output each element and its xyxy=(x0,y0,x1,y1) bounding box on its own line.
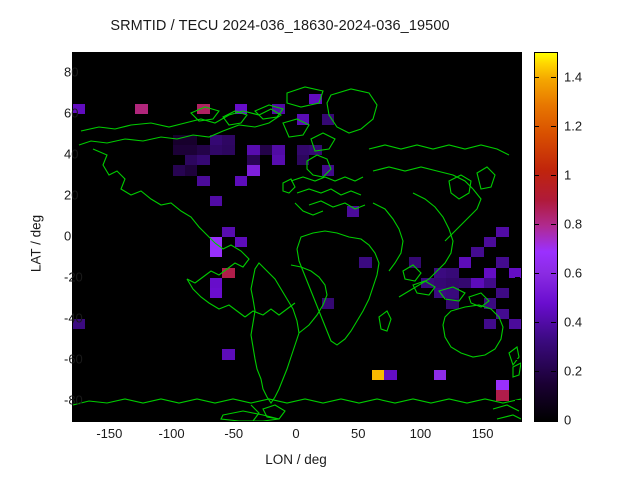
y-axis-tick-label: -20 xyxy=(64,269,83,284)
x-axis-tick xyxy=(172,52,173,57)
colorbar-tick xyxy=(534,77,539,78)
heatmap-cell xyxy=(185,135,197,145)
y-axis-tick xyxy=(515,318,520,319)
y-axis-tick xyxy=(515,400,520,401)
heatmap-cell xyxy=(135,104,147,114)
colorbar-tick xyxy=(534,420,539,421)
x-axis-tick xyxy=(358,52,359,57)
heatmap-cell xyxy=(434,288,446,298)
heatmap-cell xyxy=(446,288,458,298)
heatmap-cell xyxy=(434,370,446,380)
x-axis-tick-label: 50 xyxy=(351,426,365,441)
heatmap-cell xyxy=(210,247,222,257)
y-axis-tick-label: 80 xyxy=(64,65,78,80)
map-plot-area[interactable] xyxy=(72,52,522,422)
y-axis-tick-label: 40 xyxy=(64,147,78,162)
colorbar-tick xyxy=(551,175,556,176)
colorbar-tick xyxy=(534,175,539,176)
x-axis-tick-label: -50 xyxy=(224,426,243,441)
figure-canvas: SRMTID / TECU 2024-036_18630-2024-036_19… xyxy=(0,0,640,480)
heatmap-cell xyxy=(247,155,259,165)
heatmap-cell xyxy=(322,298,334,308)
x-axis-tick xyxy=(483,52,484,57)
heatmap-cell xyxy=(309,94,321,104)
heatmap-cell xyxy=(222,349,234,359)
x-axis-tick xyxy=(420,52,421,57)
heatmap-cell xyxy=(197,176,209,186)
x-axis-tick xyxy=(358,415,359,420)
heatmap-cell xyxy=(222,145,234,155)
heatmap-cell xyxy=(496,257,508,267)
y-axis-tick xyxy=(515,195,520,196)
heatmap-cell xyxy=(235,104,247,114)
colorbar-tick xyxy=(534,224,539,225)
x-axis-tick-label: -150 xyxy=(96,426,122,441)
colorbar-tick xyxy=(551,126,556,127)
colorbar-tick-label: 1.4 xyxy=(564,69,582,84)
heatmap-cell xyxy=(210,135,222,145)
heatmap-cell xyxy=(197,155,209,165)
colorbar-tick xyxy=(534,371,539,372)
colorbar-tick xyxy=(551,420,556,421)
heatmap-cell xyxy=(235,237,247,247)
colorbar-tick xyxy=(551,273,556,274)
heatmap-cell xyxy=(384,370,396,380)
heatmap-cell xyxy=(173,135,185,145)
y-axis-tick-label: -80 xyxy=(64,392,83,407)
heatmap-cell xyxy=(222,268,234,278)
heatmap-cell xyxy=(459,278,471,288)
heatmap-cell xyxy=(260,145,272,155)
heatmap-cell xyxy=(210,145,222,155)
y-axis-tick xyxy=(72,236,77,237)
x-axis-tick-label: 100 xyxy=(410,426,432,441)
x-axis-tick xyxy=(234,415,235,420)
y-axis-tick xyxy=(515,236,520,237)
colorbar-tick xyxy=(534,273,539,274)
heatmap-cell xyxy=(446,268,458,278)
colorbar-tick xyxy=(534,126,539,127)
colorbar-tick xyxy=(551,77,556,78)
x-axis-tick-label: 0 xyxy=(292,426,299,441)
colorbar-tick-label: 1 xyxy=(564,167,571,182)
colorbar-tick-label: 0.8 xyxy=(564,216,582,231)
heatmap-cell xyxy=(509,319,521,329)
heatmap-cell xyxy=(235,176,247,186)
heatmap-cell xyxy=(222,227,234,237)
x-axis-tick xyxy=(172,415,173,420)
heatmap-cell xyxy=(359,257,371,267)
heatmap-cell xyxy=(272,145,284,155)
y-axis-title: LAT / deg xyxy=(29,184,44,304)
heatmap-cell xyxy=(409,257,421,267)
heatmap-cell xyxy=(446,298,458,308)
heatmap-cell xyxy=(484,278,496,288)
y-axis-tick-label: -60 xyxy=(64,351,83,366)
heatmap-cell xyxy=(496,309,508,319)
heatmap-cell xyxy=(484,319,496,329)
heatmap-cell xyxy=(272,104,284,114)
x-axis-title: LON / deg xyxy=(72,452,520,467)
colorbar-tick-label: 0 xyxy=(564,413,571,428)
heatmap-cell xyxy=(222,135,234,145)
heatmap-cell xyxy=(459,257,471,267)
heatmap-cell xyxy=(210,278,222,288)
heatmap-cell xyxy=(247,145,259,155)
x-axis-tick xyxy=(234,52,235,57)
y-axis-tick-label: 60 xyxy=(64,106,78,121)
x-axis-tick xyxy=(296,52,297,57)
heatmap-cell xyxy=(210,196,222,206)
x-axis-tick xyxy=(483,415,484,420)
x-axis-tick xyxy=(109,52,110,57)
x-axis-tick-label: -100 xyxy=(159,426,185,441)
colorbar-gradient xyxy=(535,53,557,421)
colorbar-tick xyxy=(534,322,539,323)
heatmap-cell xyxy=(210,237,222,247)
y-axis-tick xyxy=(515,277,520,278)
heatmap-cell xyxy=(484,237,496,247)
heatmap-cell xyxy=(347,206,359,216)
heatmap-cell xyxy=(210,288,222,298)
colorbar-tick-label: 0.6 xyxy=(564,265,582,280)
y-axis-tick xyxy=(515,113,520,114)
x-axis-tick xyxy=(420,415,421,420)
x-axis-tick xyxy=(109,415,110,420)
heatmap-cell xyxy=(322,114,334,124)
x-axis-tick xyxy=(296,415,297,420)
y-axis-tick-label: -40 xyxy=(64,310,83,325)
chart-title: SRMTID / TECU 2024-036_18630-2024-036_19… xyxy=(0,18,560,34)
heatmap-cell xyxy=(185,165,197,175)
heatmap-cell xyxy=(496,380,508,390)
y-axis-tick-label: 20 xyxy=(64,188,78,203)
heatmap-cell xyxy=(471,278,483,288)
heatmap-cell xyxy=(309,145,321,155)
colorbar-tick xyxy=(551,224,556,225)
heatmap-cells-layer xyxy=(73,53,521,421)
colorbar[interactable] xyxy=(534,52,558,422)
heatmap-cell xyxy=(434,278,446,288)
y-axis-tick xyxy=(515,154,520,155)
x-axis-tick-label: 150 xyxy=(472,426,494,441)
heatmap-cell xyxy=(197,145,209,155)
y-axis-tick xyxy=(515,72,520,73)
colorbar-tick-label: 1.2 xyxy=(564,118,582,133)
colorbar-tick xyxy=(551,322,556,323)
heatmap-cell xyxy=(496,288,508,298)
heatmap-cell xyxy=(471,247,483,257)
heatmap-cell xyxy=(247,165,259,175)
y-axis-tick xyxy=(515,359,520,360)
heatmap-cell xyxy=(297,155,309,165)
heatmap-cell xyxy=(322,165,334,175)
heatmap-cell xyxy=(421,278,433,288)
heatmap-cell xyxy=(484,298,496,308)
heatmap-cell xyxy=(484,268,496,278)
heatmap-cell xyxy=(185,145,197,155)
heatmap-cell xyxy=(434,268,446,278)
heatmap-cell xyxy=(173,165,185,175)
heatmap-cell xyxy=(173,145,185,155)
heatmap-cell xyxy=(272,155,284,165)
colorbar-tick-label: 0.4 xyxy=(564,314,582,329)
colorbar-tick xyxy=(551,371,556,372)
heatmap-cell xyxy=(297,114,309,124)
heatmap-cell xyxy=(446,278,458,288)
colorbar-tick-label: 0.2 xyxy=(564,363,582,378)
heatmap-cell xyxy=(496,227,508,237)
heatmap-cell xyxy=(496,390,508,400)
heatmap-cell xyxy=(185,155,197,165)
heatmap-cell xyxy=(372,370,384,380)
y-axis-tick-label: 0 xyxy=(64,229,71,244)
heatmap-cell xyxy=(297,145,309,155)
heatmap-cell xyxy=(197,104,209,114)
